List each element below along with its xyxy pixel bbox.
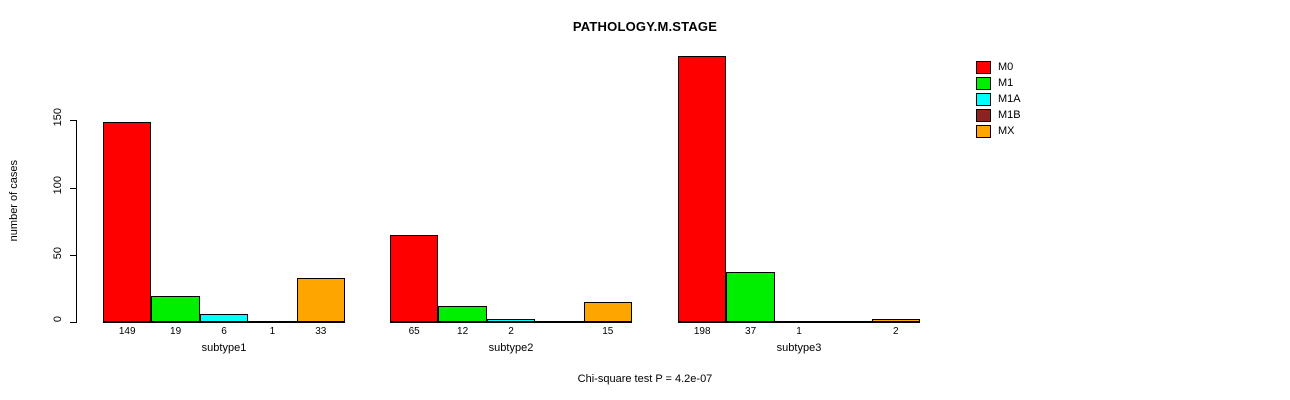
bar-subtype2-M1A <box>487 319 535 322</box>
bar-subtype1-M1A <box>200 314 248 322</box>
bar-count-subtype2-M1A: 2 <box>487 326 535 337</box>
bar-count-subtype2-M1: 12 <box>438 326 486 337</box>
bar-count-subtype3-M1: 37 <box>726 326 774 337</box>
legend-item-m0: M0 <box>976 59 1096 75</box>
bar-subtype2-M0 <box>390 235 438 322</box>
group-label-subtype3: subtype3 <box>678 342 920 354</box>
bar-count-subtype2-M0: 65 <box>390 326 438 337</box>
bar-count-subtype1-M0: 149 <box>103 326 151 337</box>
group-label-subtype1: subtype1 <box>103 342 345 354</box>
legend-swatch-mx-icon <box>976 125 991 138</box>
legend-item-m1: M1 <box>976 75 1096 91</box>
y-tick-0 <box>70 322 76 323</box>
bar-subtype3-MX <box>872 319 920 322</box>
legend-swatch-m1a-icon <box>976 93 991 106</box>
bar-subtype1-MX <box>297 278 345 322</box>
y-axis-title: number of cases <box>8 160 20 241</box>
bar-count-subtype1-M1: 19 <box>151 326 199 337</box>
bar-subtype1-M0 <box>103 122 151 322</box>
bar-count-subtype3-MX: 2 <box>872 326 920 337</box>
legend-label-m1b: M1B <box>998 109 1021 121</box>
y-tick-100 <box>70 188 76 189</box>
legend-item-mx: MX <box>976 123 1096 139</box>
bar-subtype3-M1 <box>726 272 774 322</box>
legend-label-m1a: M1A <box>998 93 1021 105</box>
bar-count-subtype1-MX: 33 <box>297 326 345 337</box>
bar-count-subtype3-M0: 198 <box>678 326 726 337</box>
bar-subtype3-M1A <box>775 321 823 323</box>
legend: M0 M1 M1A M1B MX <box>976 59 1096 139</box>
bar-count-subtype1-M1B: 1 <box>248 326 296 337</box>
legend-swatch-m1b-icon <box>976 109 991 122</box>
chart-annotation: Chi-square test P = 4.2e-07 <box>0 373 1290 385</box>
legend-label-m1: M1 <box>998 77 1013 89</box>
bar-subtype1-M1B <box>248 321 296 323</box>
legend-label-m0: M0 <box>998 61 1013 73</box>
y-tick-label-50: 50 <box>52 247 64 259</box>
y-tick-label-150: 150 <box>52 108 64 126</box>
bar-chart-plot-area: 150 100 50 0 number of cases 149 19 6 1 … <box>0 0 980 400</box>
legend-swatch-m1-icon <box>976 77 991 90</box>
bar-count-subtype3-M1A: 1 <box>775 326 823 337</box>
legend-item-m1a: M1A <box>976 91 1096 107</box>
bar-count-subtype2-MX: 15 <box>584 326 632 337</box>
y-tick-label-0: 0 <box>52 316 64 322</box>
y-tick-label-100: 100 <box>52 176 64 194</box>
group-label-subtype2: subtype2 <box>390 342 632 354</box>
y-axis-line <box>76 120 77 323</box>
bar-subtype3-M0 <box>678 56 726 322</box>
bar-count-subtype1-M1A: 6 <box>200 326 248 337</box>
y-tick-150 <box>70 120 76 121</box>
bar-subtype1-M1 <box>151 296 199 322</box>
bar-subtype2-M1B <box>535 321 583 323</box>
legend-label-mx: MX <box>998 125 1015 137</box>
bar-subtype2-MX <box>584 302 632 322</box>
bar-subtype2-M1 <box>438 306 486 322</box>
legend-item-m1b: M1B <box>976 107 1096 123</box>
legend-swatch-m0-icon <box>976 61 991 74</box>
bar-subtype3-M1B <box>823 321 871 323</box>
y-tick-50 <box>70 255 76 256</box>
